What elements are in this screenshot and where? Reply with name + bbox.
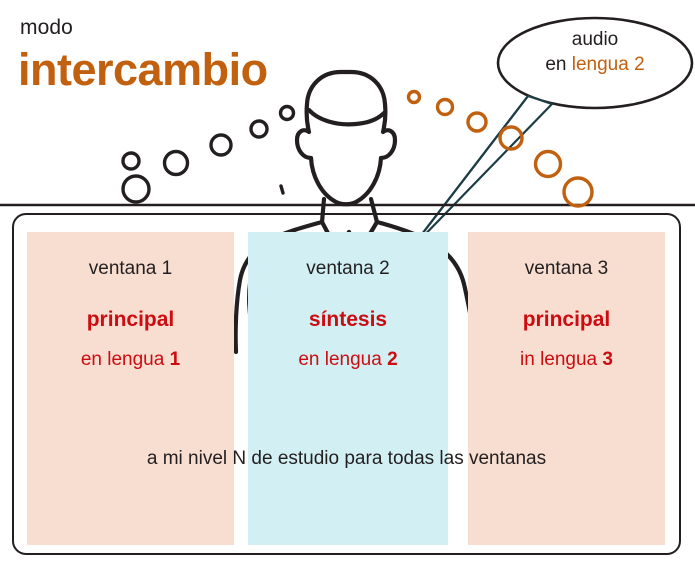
diagram-canvas: modo intercambio: [0, 0, 695, 571]
speech-bubble-line-1: audio: [505, 28, 685, 53]
window-column-3[interactable]: ventana 3 principal in lengua 3: [468, 232, 665, 545]
window-2-language-prefix: en lengua: [298, 349, 387, 370]
page-title: intercambio: [18, 44, 268, 96]
speech-bubble-line-2-prefix: en: [545, 54, 571, 75]
window-2-name: ventana 2: [248, 258, 448, 280]
orange-circle-trail: [409, 92, 593, 207]
window-3-language-prefix: in lengua: [520, 349, 602, 370]
panel-footnote: a mi nivel N de estudio para todas las v…: [12, 448, 681, 470]
speech-bubble-line-2-accent: lengua 2: [572, 54, 645, 75]
person-detail-tick: [281, 186, 283, 193]
black-circle-trail: [123, 107, 294, 203]
window-3-name: ventana 3: [468, 258, 665, 280]
speech-bubble-line-2: en lengua 2: [505, 53, 685, 78]
window-1-role: principal: [27, 308, 234, 332]
speech-bubble-text: audio en lengua 2: [505, 28, 685, 77]
window-column-2[interactable]: ventana 2 síntesis en lengua 2: [248, 232, 448, 545]
window-2-role: síntesis: [248, 308, 448, 332]
window-3-language-number: 3: [602, 349, 613, 370]
window-2-language-number: 2: [387, 349, 398, 370]
window-2-language: en lengua 2: [248, 349, 448, 371]
window-1-name: ventana 1: [27, 258, 234, 280]
window-column-1[interactable]: ventana 1 principal en lengua 1: [27, 232, 234, 545]
window-1-language-prefix: en lengua: [81, 349, 170, 370]
window-3-role: principal: [468, 308, 665, 332]
window-1-language-number: 1: [170, 349, 181, 370]
mode-label: modo: [20, 16, 73, 40]
window-1-language: en lengua 1: [27, 349, 234, 371]
window-3-language: in lengua 3: [468, 349, 665, 371]
